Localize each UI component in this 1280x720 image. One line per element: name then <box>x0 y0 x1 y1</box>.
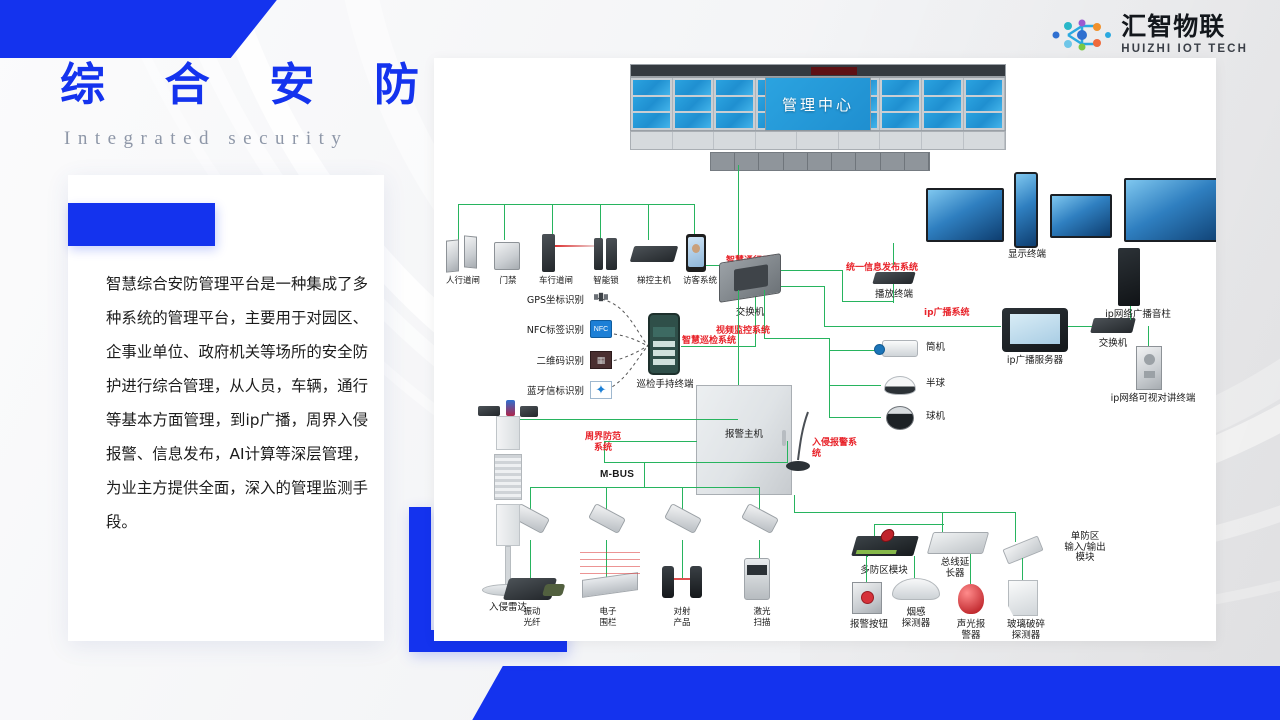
wire-access-4 <box>600 204 601 240</box>
card-paragraph: 智慧综合安防管理平台是一种集成了多种系统的管理平台，主要用于对园区、企事业单位、… <box>106 267 368 539</box>
management-center-building: 管理中心 <box>630 64 1006 150</box>
wire-mbus-1b <box>530 540 531 578</box>
label-visitor-system: 访客系统 <box>676 276 724 287</box>
label-camera-ptz: 球机 <box>926 412 960 423</box>
display-large-led-screen <box>1124 178 1216 242</box>
label-laser-scanner: 激光 扫描 <box>736 607 788 628</box>
radar-pole-camera-right <box>520 406 538 417</box>
device-ip-audio-server <box>1002 308 1068 352</box>
label-core-switch: 交换机 <box>710 308 790 319</box>
label-nfc-read: NFC标签识别 <box>496 326 584 337</box>
wire-host-to-module-bus <box>794 495 795 513</box>
wire-patrol-to-trunk <box>681 346 756 347</box>
label-display-terminal: 显示终端 <box>996 250 1058 261</box>
device-beam-detector-b <box>690 566 702 598</box>
device-vibration-fiber <box>503 578 557 600</box>
label-alarm-host: 报警主机 <box>706 430 782 441</box>
wire-module-bus <box>794 512 1016 513</box>
qr-code-icon: ▦ <box>590 351 612 369</box>
decor-blue-top-left <box>0 0 280 58</box>
device-sounder-strobe <box>958 584 984 614</box>
label-system-cctv: 视频监控系统 <box>716 326 804 337</box>
radar-pole-box-upper <box>496 416 520 450</box>
electric-fence-wires <box>580 552 640 574</box>
wire-switch-to-publish <box>781 270 843 271</box>
description-card: 智慧综合安防管理平台是一种集成了多种系统的管理平台，主要用于对园区、企事业单位、… <box>68 175 384 641</box>
slide-canvas: 汇智物联 HUIZHI IOT TECH 综 合 安 防 Integrated … <box>0 0 1280 720</box>
wire-module-bus-left <box>874 524 944 525</box>
wire-radar-to-trunk <box>501 419 738 420</box>
label-system-intrusion: 入侵报警系 统 <box>812 438 876 459</box>
wire-publish-branch <box>842 301 894 302</box>
wire-switch2-to-intercom <box>1148 326 1149 348</box>
wire-access-5 <box>648 204 649 240</box>
logo-brand-cn: 汇智物联 <box>1121 14 1248 39</box>
device-multizone-module <box>851 536 919 556</box>
device-alarm-button <box>852 582 882 614</box>
label-beam-detector: 对射 产品 <box>656 607 708 628</box>
wire-detector-3 <box>970 554 971 584</box>
device-smart-lock-b <box>606 238 617 270</box>
wire-server-to-switch2 <box>1068 326 1094 327</box>
brand-logo: 汇智物联 HUIZHI IOT TECH <box>1051 14 1248 56</box>
wire-player-to-display <box>893 243 894 265</box>
device-laser-scanner <box>744 558 770 600</box>
camera-bullet <box>882 340 918 357</box>
gps-satellite-icon <box>592 290 610 304</box>
wire-access-bus <box>458 204 694 205</box>
wire-access-1 <box>458 204 459 240</box>
decor-blue-bottom-band <box>470 666 1280 720</box>
device-bus-extender <box>927 532 989 554</box>
label-vehicle-barrier: 车行道闸 <box>530 276 582 287</box>
device-smoke-detector <box>892 578 940 600</box>
wire-access-2 <box>504 204 505 240</box>
wire-detector-spacer <box>866 556 868 557</box>
wire-audio-bus <box>824 326 1001 327</box>
label-ip-audio-server: ip广播服务器 <box>992 356 1078 367</box>
radar-pole-box-lower <box>496 504 520 546</box>
label-pedestrian-gate: 人行道闸 <box>434 276 494 287</box>
logo-brand-en: HUIZHI IOT TECH <box>1121 44 1248 56</box>
page-title: 综 合 安 防 <box>60 62 441 107</box>
core-switch <box>719 253 781 303</box>
building-ground-floor <box>630 131 1006 150</box>
label-bus-extender: 总线延 长器 <box>924 558 986 579</box>
camera-ptz <box>886 406 914 430</box>
display-standing-kiosk <box>1014 172 1038 248</box>
label-camera-bullet: 筒机 <box>926 343 960 354</box>
label-gps-read: GPS坐标识别 <box>496 296 584 307</box>
label-vibration-fiber: 振动 光纤 <box>506 607 558 628</box>
label-smoke-detector: 烟感 探测器 <box>888 608 944 629</box>
logo-molecule-icon <box>1051 15 1113 55</box>
label-multizone-module: 多防区模块 <box>844 566 924 577</box>
label-electric-fence: 电子 围栏 <box>582 607 634 628</box>
camera-dome <box>884 376 916 395</box>
wire-audio-riser <box>824 286 825 326</box>
wire-mbus-drop <box>644 462 645 488</box>
radar-pole-camera-left <box>478 406 500 416</box>
device-elevator-controller <box>630 246 679 262</box>
card-accent-badge <box>68 203 215 246</box>
label-audio-switch: 交换机 <box>1086 339 1140 350</box>
display-lcd-tv <box>1050 194 1112 238</box>
radar-sensor-module <box>494 454 522 500</box>
device-electric-fence <box>582 572 638 598</box>
building-roof <box>630 64 1006 77</box>
label-beacon-read: 蓝牙信标识别 <box>490 387 584 398</box>
radar-pole-beacon <box>506 400 515 416</box>
label-smart-lock: 智能锁 <box>584 276 628 287</box>
label-qrcode-read: 二维码识别 <box>496 357 584 368</box>
wire-mbus-3b <box>682 540 683 578</box>
device-glass-break-detector <box>1008 580 1038 616</box>
wire-cctv-bus <box>764 338 830 339</box>
device-visitor-terminal <box>686 234 706 272</box>
label-access-controller: 门禁 <box>489 276 527 287</box>
label-play-terminal: 播放终端 <box>864 290 924 301</box>
wire-cctv-ptz <box>829 417 881 418</box>
nfc-tag-icon: NFC <box>590 320 612 338</box>
label-ip-video-intercom: ip网络可视对讲终端 <box>1094 394 1212 405</box>
device-pedestrian-gate-a <box>446 239 459 272</box>
label-ip-audio-column: ip网络广播音柱 <box>1086 310 1190 321</box>
device-ip-audio-column <box>1118 248 1140 306</box>
device-play-terminal <box>872 272 915 284</box>
label-mbus: M-BUS <box>600 470 660 481</box>
building-center-sign: 管理中心 <box>765 77 870 131</box>
wire-switch-to-audio-a <box>781 286 825 287</box>
wire-building-to-switch <box>738 165 739 261</box>
wire-switch-to-alarm-host <box>738 290 739 386</box>
display-video-wall <box>926 188 1004 242</box>
device-ip-video-intercom <box>1136 346 1162 390</box>
wire-mbus-top <box>604 462 788 463</box>
label-patrol-terminal: 巡检手持终端 <box>630 380 700 391</box>
patrol-handheld-terminal <box>648 313 680 375</box>
building-led-strip <box>811 67 857 75</box>
label-elevator-controller: 梯控主机 <box>630 276 678 287</box>
architecture-diagram: 管理中心 人行道闸 门禁 车行道闸 智能锁 梯控主机 <box>434 58 1216 641</box>
page-subtitle: Integrated security <box>64 128 348 150</box>
wire-mbus-to-host <box>787 441 788 463</box>
label-system-perimeter: 周界防范 系统 <box>570 432 636 453</box>
wire-detector-2 <box>914 556 915 578</box>
beam-detector-ray <box>674 578 690 580</box>
device-pedestrian-gate-b <box>464 235 477 268</box>
wire-detector-1 <box>866 556 867 582</box>
label-camera-dome: 半球 <box>926 379 960 390</box>
label-system-patrol: 智慧巡检系统 <box>682 336 762 347</box>
wire-cctv-dome <box>829 385 881 386</box>
building-perimeter-wall <box>710 152 930 171</box>
wire-publish-riser <box>842 270 843 302</box>
bluetooth-beacon-icon: ✦ <box>590 381 612 399</box>
wire-module-bus-drop-2 <box>1015 512 1016 542</box>
device-vehicle-barrier-post <box>542 234 555 272</box>
label-system-ipaudio: ip广播系统 <box>924 308 996 319</box>
device-access-controller <box>494 242 520 270</box>
building-center-label: 管理中心 <box>782 94 854 115</box>
label-single-zone-io-module: 单防区 输入/输出 模块 <box>1048 532 1122 564</box>
label-glass-break-detector: 玻璃破碎 探测器 <box>992 620 1060 641</box>
device-smart-lock-a <box>594 238 603 270</box>
device-beam-detector-a <box>662 566 674 598</box>
